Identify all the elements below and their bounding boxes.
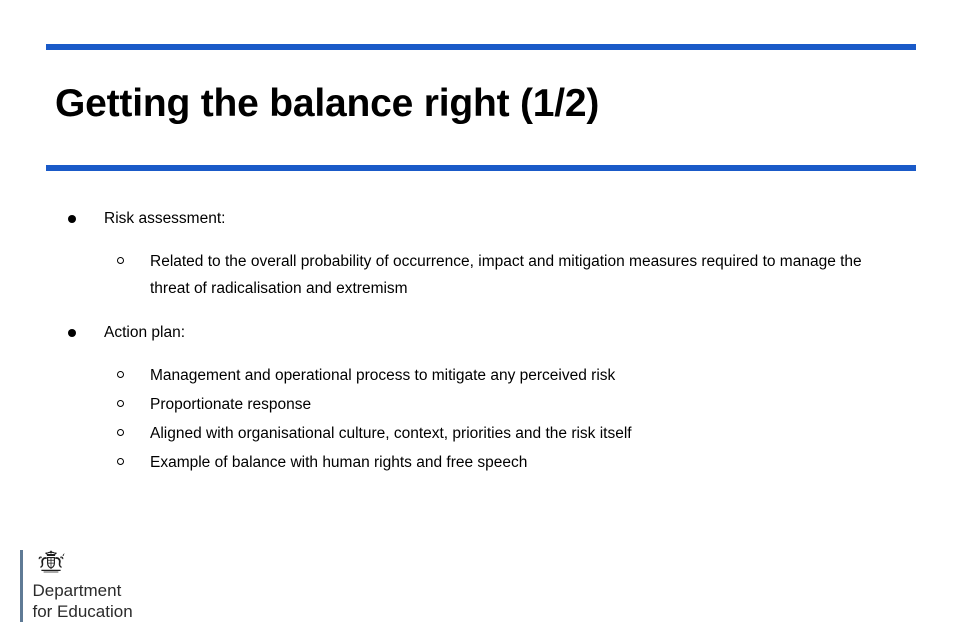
circle-bullet-icon [117,458,124,465]
circle-bullet-icon [117,429,124,436]
bullet-group: Risk assessment: Related to the overall … [0,208,960,302]
bullet-level2: Related to the overall probability of oc… [0,249,960,301]
bullet-level2-label: Related to the overall probability of oc… [150,253,862,296]
bullet-level1-label: Risk assessment: [104,210,225,227]
slide-body: Risk assessment: Related to the overall … [0,208,960,476]
bullet-level2: Proportionate response [0,392,960,418]
disc-bullet-icon [68,329,76,337]
slide: Getting the balance right (1/2) Risk ass… [0,0,960,640]
title-rule-bottom [46,165,916,171]
circle-bullet-icon [117,400,124,407]
dfe-logo: Department for Education [20,550,133,622]
bullet-level2-label: Example of balance with human rights and… [150,454,527,471]
bullet-level2-label: Management and operational process to mi… [150,367,615,384]
title-rule-top [46,44,916,50]
logo-text-line2: for Education [33,602,133,623]
bullet-level2: Aligned with organisational culture, con… [0,421,960,447]
bullet-level2: Example of balance with human rights and… [0,450,960,476]
royal-coat-of-arms-icon [33,550,69,576]
page-title: Getting the balance right (1/2) [55,83,599,125]
bullet-level2: Management and operational process to mi… [0,363,960,389]
bullet-level1-label: Action plan: [104,324,185,341]
bullet-sublist: Related to the overall probability of oc… [0,249,960,301]
circle-bullet-icon [117,257,124,264]
bullet-sublist: Management and operational process to mi… [0,363,960,476]
disc-bullet-icon [68,215,76,223]
bullet-level1: Risk assessment: [0,208,960,230]
logo-text-line1: Department [33,581,133,602]
logo-body: Department for Education [33,550,133,622]
bullet-level2-label: Proportionate response [150,396,311,413]
bullet-level2-label: Aligned with organisational culture, con… [150,425,632,442]
bullet-level1: Action plan: [0,322,960,344]
logo-accent-bar [20,550,23,622]
bullet-group: Action plan: Management and operational … [0,322,960,477]
circle-bullet-icon [117,371,124,378]
